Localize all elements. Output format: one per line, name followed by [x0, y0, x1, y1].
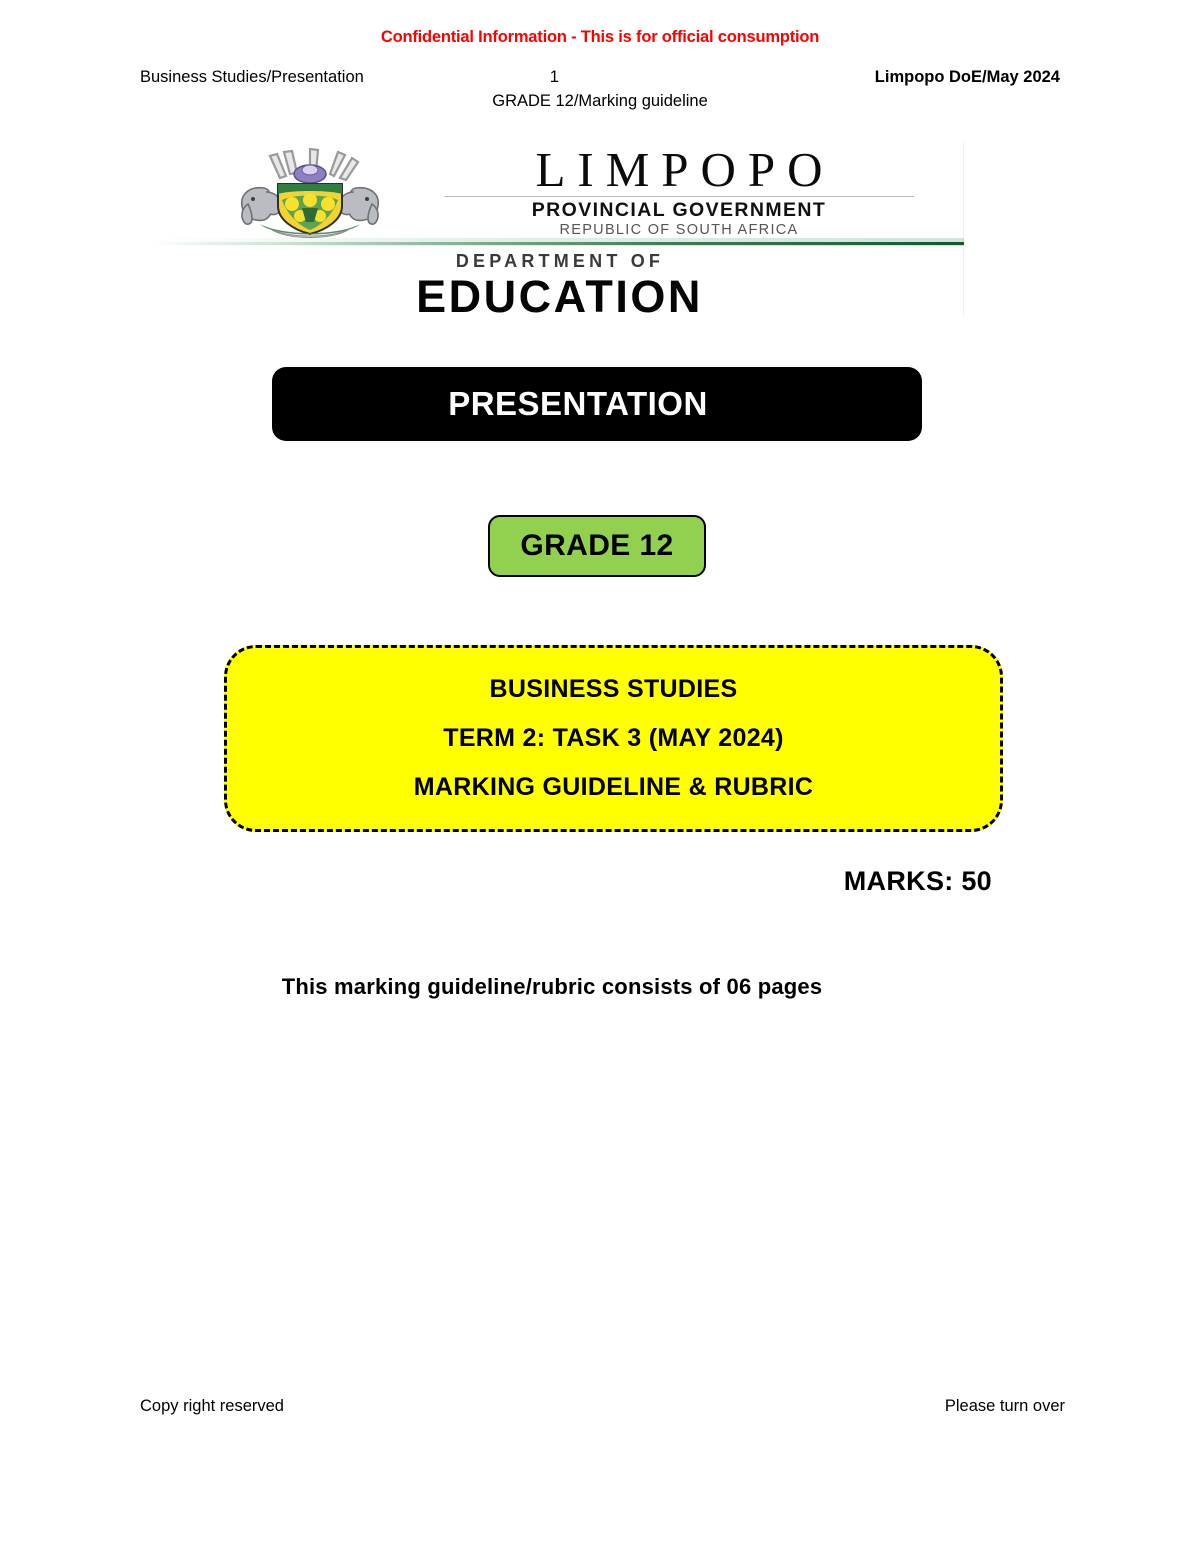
department-of-label: DEPARTMENT OF — [152, 252, 964, 272]
provincial-government-label: PROVINCIAL GOVERNMENT — [444, 200, 914, 221]
running-head-subtitle: GRADE 12/Marking guideline — [140, 90, 1200, 112]
education-label: EDUCATION — [152, 273, 964, 322]
logo-top-row: LIMPOPO PROVINCIAL GOVERNMENT REPUBLIC O… — [152, 142, 963, 240]
presentation-banner-title: PRESENTATION — [448, 385, 708, 423]
copyright-note: Copy right reserved — [140, 1397, 284, 1416]
term-task-label: TERM 2: TASK 3 (MAY 2024) — [443, 714, 783, 763]
running-head-left: Business Studies/Presentation — [140, 66, 364, 88]
logo-swoosh-line — [152, 242, 964, 245]
presentation-banner: PRESENTATION — [272, 367, 922, 441]
coat-of-arms-icon — [220, 148, 400, 240]
limpopo-wordmark: LIMPOPO PROVINCIAL GOVERNMENT REPUBLIC O… — [444, 146, 914, 240]
document-page: Confidential Information - This is for o… — [0, 0, 1200, 1553]
marking-guideline-label: MARKING GUIDELINE & RUBRIC — [414, 763, 813, 812]
department-wordmark: DEPARTMENT OF EDUCATION — [152, 252, 964, 321]
subject-name: BUSINESS STUDIES — [490, 665, 738, 714]
limpopo-department-logo: LIMPOPO PROVINCIAL GOVERNMENT REPUBLIC O… — [152, 142, 964, 317]
running-head-row: Business Studies/Presentation 1 Limpopo … — [140, 66, 1060, 88]
province-name: LIMPOPO — [444, 146, 914, 194]
total-marks: MARKS: 50 — [140, 866, 992, 897]
page-count-note: This marking guideline/rubric consists o… — [0, 974, 1200, 1000]
running-head: Business Studies/Presentation 1 Limpopo … — [140, 66, 1060, 113]
running-head-right: Limpopo DoE/May 2024 — [875, 66, 1060, 88]
grade-badge-label: GRADE 12 — [520, 529, 673, 563]
page-number: 1 — [364, 66, 875, 88]
confidential-notice: Confidential Information - This is for o… — [0, 28, 1200, 47]
grade-badge: GRADE 12 — [488, 515, 706, 577]
subject-info-box: BUSINESS STUDIES TERM 2: TASK 3 (MAY 202… — [224, 645, 1003, 832]
page-footer: Copy right reserved Please turn over — [140, 1397, 1065, 1416]
turn-over-note: Please turn over — [945, 1397, 1065, 1416]
